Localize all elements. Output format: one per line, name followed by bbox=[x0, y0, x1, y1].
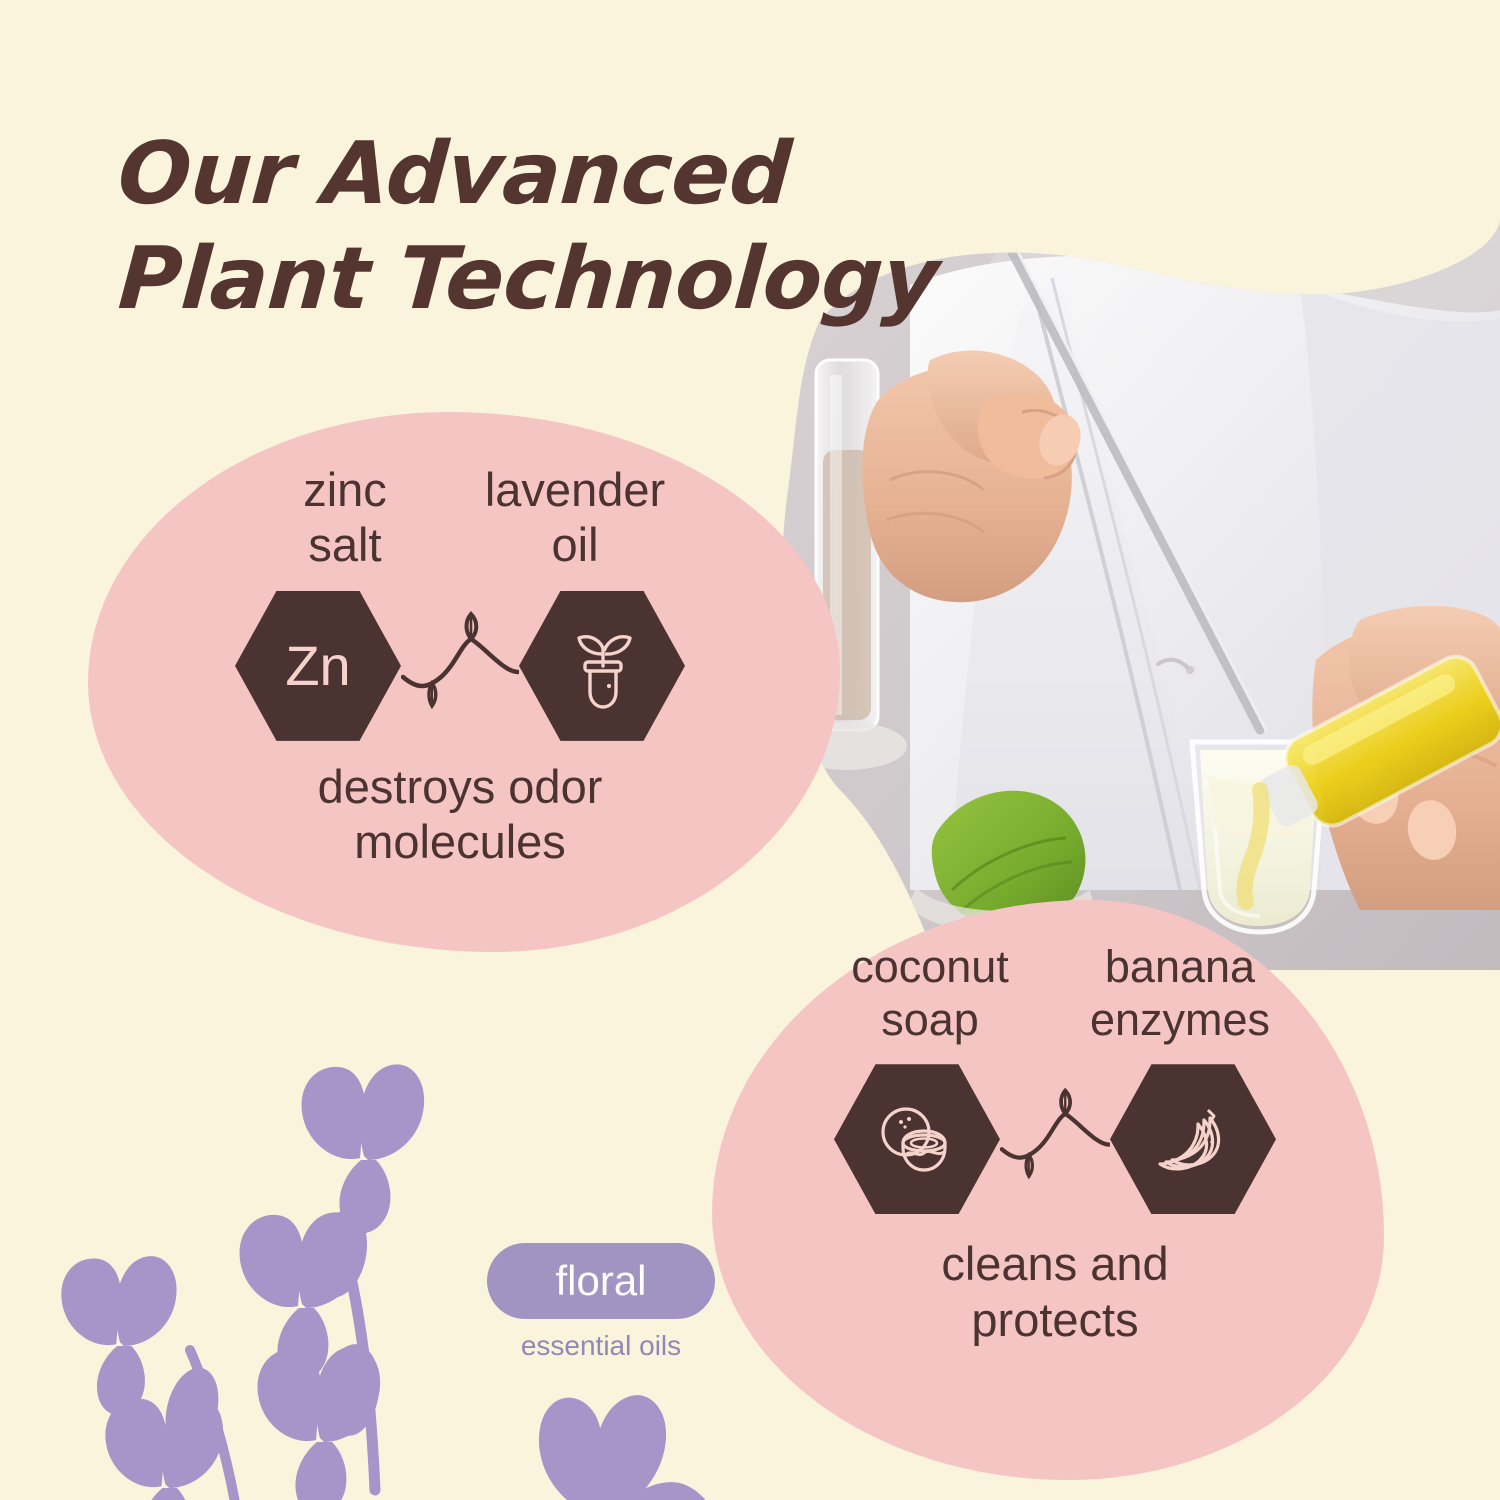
clean-card-labels: coconut soap banana enzymes bbox=[775, 940, 1335, 1046]
zinc-salt-label: zinc salt bbox=[230, 462, 460, 573]
clean-card: coconut soap banana enzymes bbox=[775, 940, 1335, 1347]
odor-card-labels: zinc salt lavender oil bbox=[150, 462, 770, 573]
vine-connector-icon bbox=[1000, 1084, 1110, 1194]
clean-card-molecule-row bbox=[775, 1064, 1335, 1214]
coconut-icon bbox=[872, 1098, 962, 1180]
zinc-hexagon: Zn bbox=[235, 591, 401, 741]
vine-connector-icon bbox=[401, 611, 519, 721]
clean-card-tagline: cleans and protects bbox=[775, 1236, 1335, 1347]
banana-bunch-icon bbox=[1148, 1098, 1238, 1180]
banana-hexagon bbox=[1110, 1064, 1276, 1214]
odor-card-molecule-row: Zn bbox=[150, 591, 770, 741]
lavender-oil-hexagon bbox=[519, 591, 685, 741]
floral-badge-sublabel: essential oils bbox=[487, 1332, 715, 1360]
title-line-1: Our Advanced bbox=[115, 122, 1002, 227]
banana-enzymes-label: banana enzymes bbox=[1055, 940, 1305, 1046]
test-tube-sprout-icon bbox=[559, 620, 645, 712]
infographic-canvas: Our Advanced Plant Technology zinc salt … bbox=[0, 0, 1500, 1500]
coconut-soap-label: coconut soap bbox=[805, 940, 1055, 1046]
odor-card: zinc salt lavender oil Zn bbox=[150, 462, 770, 870]
coconut-hexagon bbox=[834, 1064, 1000, 1214]
page-title: Our Advanced Plant Technology bbox=[107, 122, 1002, 332]
zinc-symbol-text: Zn bbox=[285, 638, 350, 694]
title-line-2: Plant Technology bbox=[115, 227, 994, 332]
lavender-oil-label: lavender oil bbox=[460, 462, 690, 573]
lavender-sprig-partial bbox=[520, 1370, 750, 1500]
floral-badge[interactable]: floral bbox=[487, 1243, 715, 1319]
floral-badge-label: floral bbox=[555, 1260, 646, 1302]
odor-card-tagline: destroys odor molecules bbox=[150, 759, 770, 870]
